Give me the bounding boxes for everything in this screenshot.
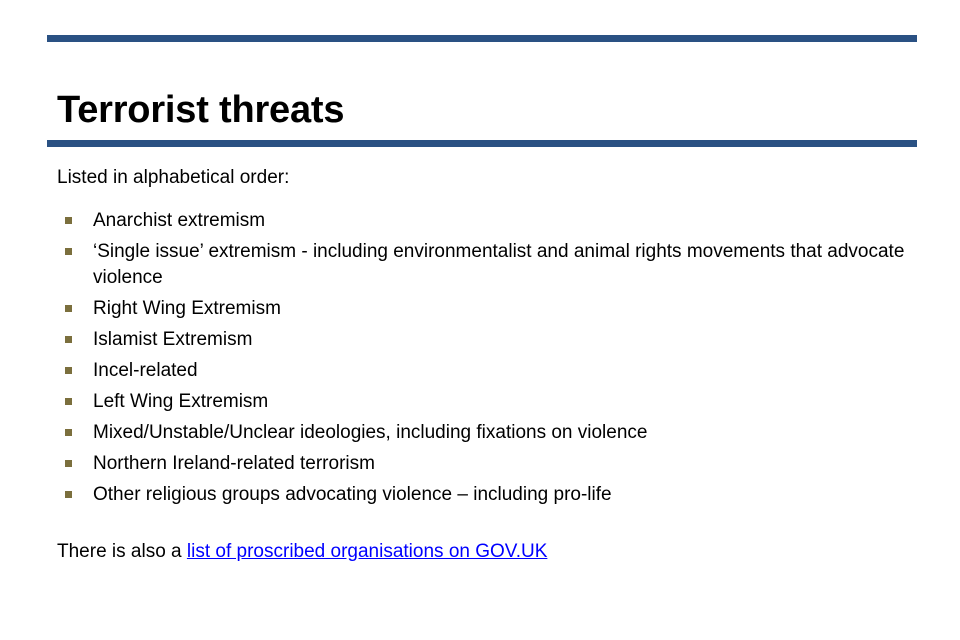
square-bullet-icon: [65, 248, 72, 255]
list-item-label: Mixed/Unstable/Unclear ideologies, inclu…: [93, 420, 927, 446]
square-bullet-icon: [65, 305, 72, 312]
intro-text: Listed in alphabetical order:: [57, 164, 927, 192]
title-rule-top: [47, 35, 917, 42]
list-item-label: ‘Single issue’ extremism - including env…: [93, 239, 927, 290]
square-bullet-icon: [65, 217, 72, 224]
list-item: Right Wing Extremism: [57, 296, 927, 322]
square-bullet-icon: [65, 336, 72, 343]
closing-lead-text: There is also a: [57, 541, 187, 562]
list-item-label: Northern Ireland-related terrorism: [93, 451, 927, 477]
slide: Terrorist threats Listed in alphabetical…: [0, 0, 960, 640]
list-item: Anarchist extremism: [57, 208, 927, 234]
square-bullet-icon: [65, 491, 72, 498]
square-bullet-icon: [65, 398, 72, 405]
list-item-label: Anarchist extremism: [93, 208, 927, 234]
proscribed-organisations-link[interactable]: list of proscribed organisations on GOV.…: [187, 541, 547, 562]
list-item: Other religious groups advocating violen…: [57, 482, 927, 508]
square-bullet-icon: [65, 367, 72, 374]
slide-body: Listed in alphabetical order: Anarchist …: [57, 164, 927, 585]
closing-line: There is also a list of proscribed organ…: [57, 538, 927, 566]
list-item: ‘Single issue’ extremism - including env…: [57, 239, 927, 290]
list-item-label: Left Wing Extremism: [93, 389, 927, 415]
list-item: Islamist Extremism: [57, 327, 927, 353]
list-item-label: Other religious groups advocating violen…: [93, 482, 927, 508]
page-title: Terrorist threats: [57, 87, 344, 133]
list-item: Left Wing Extremism: [57, 389, 927, 415]
square-bullet-icon: [65, 429, 72, 436]
list-item-label: Incel-related: [93, 358, 927, 384]
list-item: Northern Ireland-related terrorism: [57, 451, 927, 477]
list-item-label: Islamist Extremism: [93, 327, 927, 353]
title-rule-bottom: [47, 140, 917, 147]
threat-list: Anarchist extremism ‘Single issue’ extre…: [57, 208, 927, 507]
list-item: Incel-related: [57, 358, 927, 384]
list-item-label: Right Wing Extremism: [93, 296, 927, 322]
list-item: Mixed/Unstable/Unclear ideologies, inclu…: [57, 420, 927, 446]
square-bullet-icon: [65, 460, 72, 467]
